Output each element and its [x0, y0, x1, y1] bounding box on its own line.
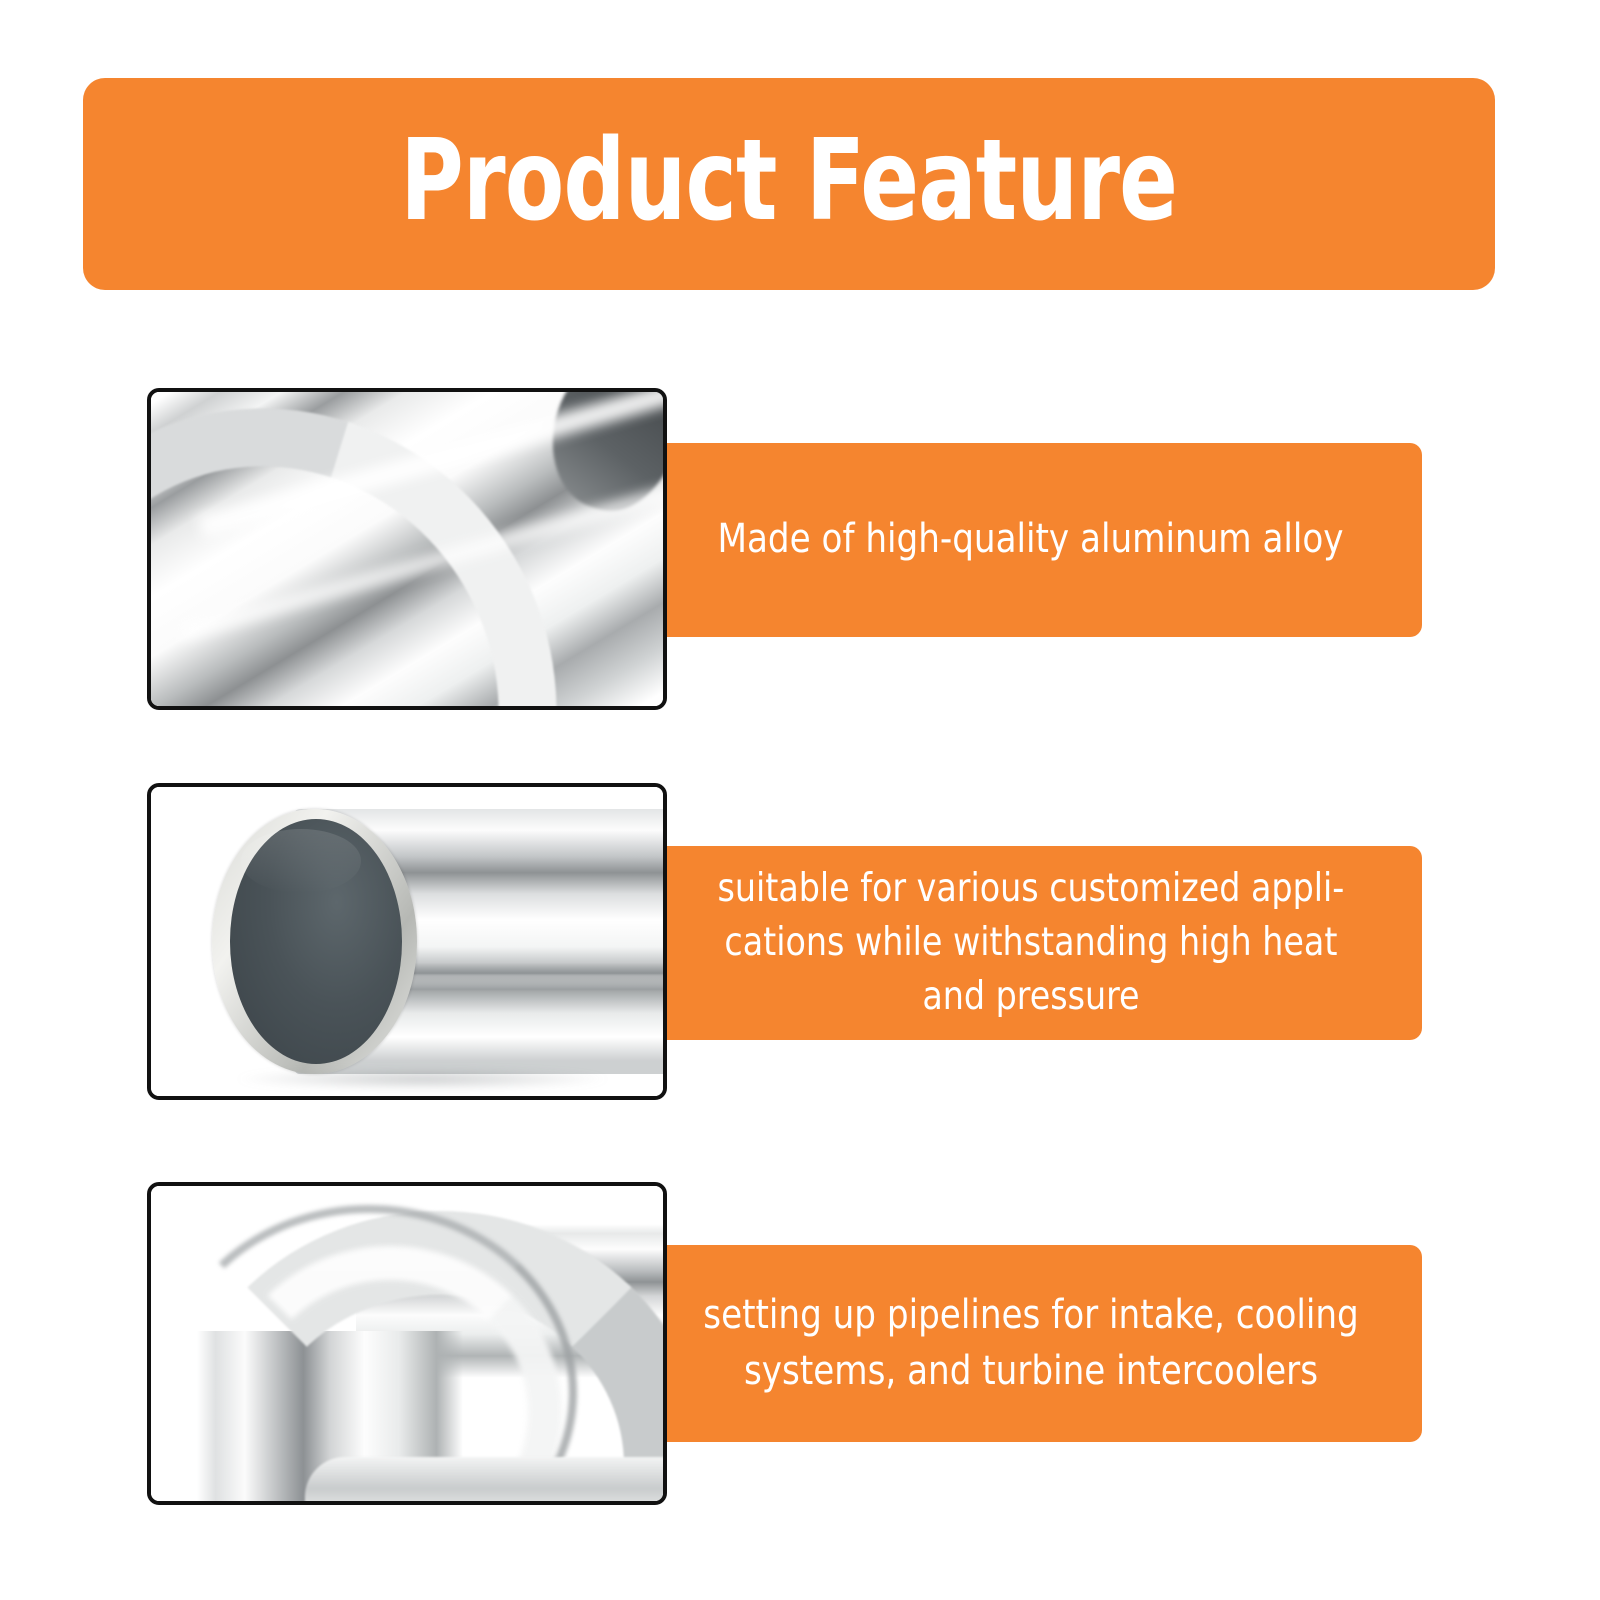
feature-banner-3: setting up pipelines for intake, cooling… — [640, 1245, 1422, 1442]
feature-text-2: suitable for various customized appli- c… — [718, 862, 1345, 1023]
feature-image-frame-2 — [147, 783, 667, 1100]
pipe-bend-photo — [151, 392, 663, 706]
feature-row-1: Made of high-quality aluminum alloy — [0, 388, 1600, 710]
pipe-bore-shape — [230, 819, 402, 1063]
pipe-open-end-photo — [151, 787, 663, 1096]
pipe-elbow-photo — [151, 1186, 663, 1501]
page-title: Product Feature — [401, 125, 1178, 237]
feature-text-3: setting up pipelines for intake, cooling… — [703, 1288, 1359, 1398]
feature-banner-1: Made of high-quality aluminum alloy — [640, 443, 1422, 637]
feature-row-2: suitable for various customized appli- c… — [0, 783, 1600, 1100]
title-banner: Product Feature — [83, 78, 1495, 290]
feature-banner-2: suitable for various customized appli- c… — [640, 846, 1422, 1040]
feature-text-1: Made of high-quality aluminum alloy — [718, 512, 1344, 567]
feature-image-frame-1 — [147, 388, 667, 710]
product-feature-infographic: Product Feature Made of high-quality alu… — [0, 0, 1600, 1600]
pipe-drop-shadow — [233, 1068, 612, 1090]
feature-image-frame-3 — [147, 1182, 667, 1505]
feature-row-3: setting up pipelines for intake, cooling… — [0, 1182, 1600, 1505]
pipe-lower-leg-shape — [305, 1457, 663, 1501]
